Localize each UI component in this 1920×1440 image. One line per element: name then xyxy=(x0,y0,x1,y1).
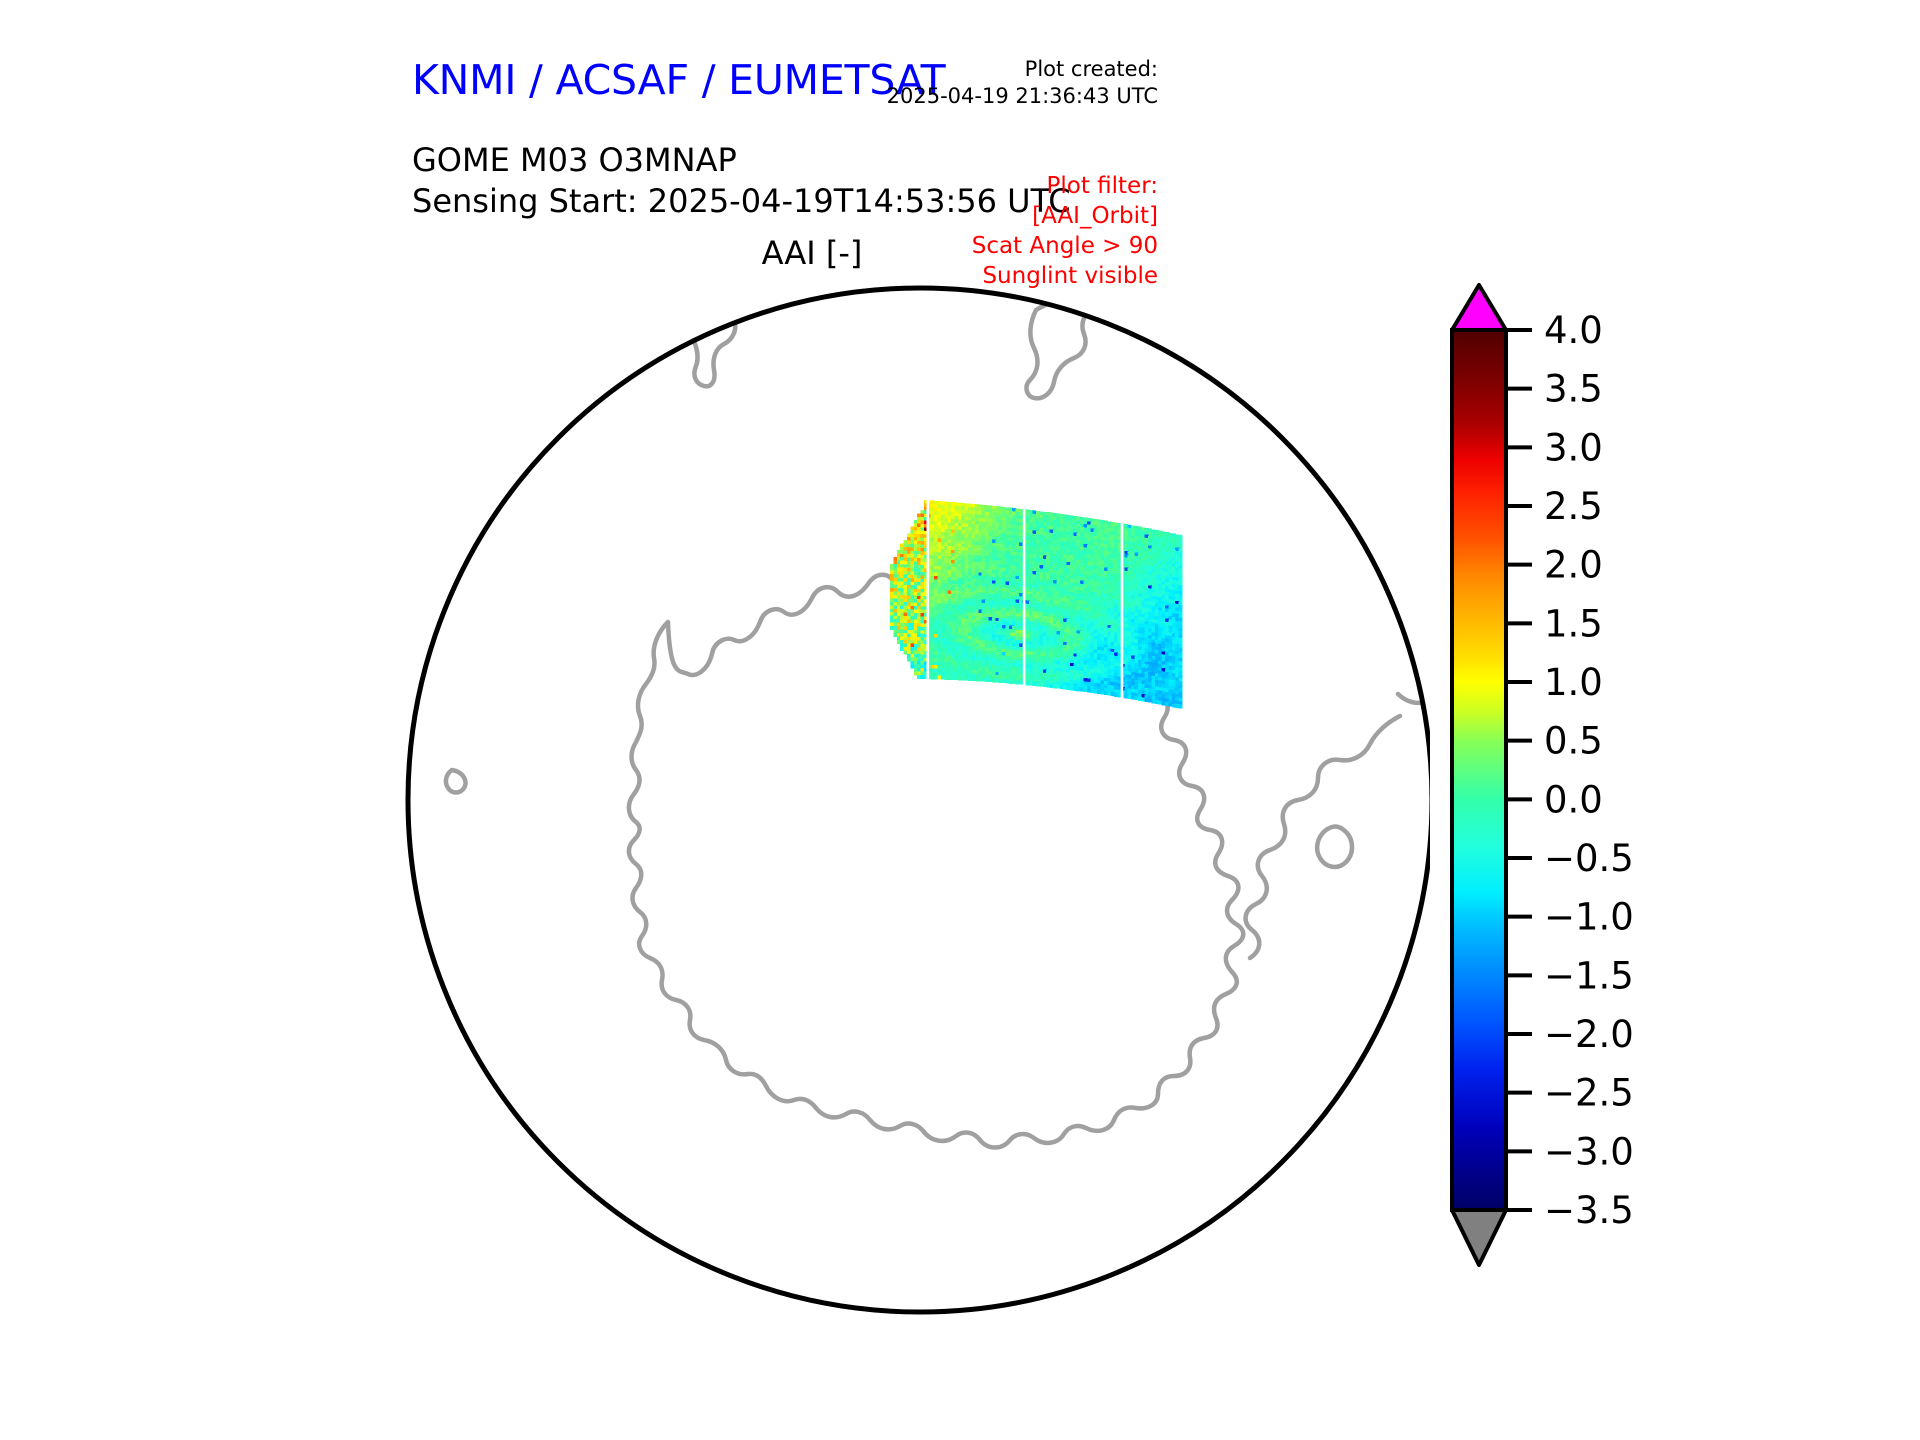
colorbar-tick-label: 3.0 xyxy=(1544,426,1603,469)
colorbar-over-range-arrow xyxy=(1452,285,1506,330)
colorbar-under-range-arrow xyxy=(1452,1210,1506,1265)
plot-created-block: Plot created: 2025-04-19 21:36:43 UTC xyxy=(738,56,1158,110)
map-svg xyxy=(390,270,1430,1330)
colorbar-tick-label: −2.5 xyxy=(1544,1072,1634,1115)
colorbar-tick-label: −0.5 xyxy=(1544,837,1634,880)
colorbar-tick-label: −2.0 xyxy=(1544,1013,1634,1056)
colorbar-tick-label: −1.0 xyxy=(1544,896,1634,939)
swath-scan-gap xyxy=(927,496,930,680)
colorbar-tick-label: 1.5 xyxy=(1544,602,1603,645)
plot-filter-name: [AAI_Orbit] xyxy=(718,202,1158,232)
plot-created-timestamp: 2025-04-19 21:36:43 UTC xyxy=(738,83,1158,110)
plot-filter-condition: Scat Angle > 90 xyxy=(718,232,1158,262)
aai-data-swath xyxy=(890,496,1183,708)
colorbar-tick-label: −3.0 xyxy=(1544,1130,1634,1173)
island-falklands xyxy=(519,351,553,385)
colorbar-tick-label: 0.0 xyxy=(1544,778,1603,821)
plot-filter-label: Plot filter: xyxy=(718,172,1158,202)
swath-pixel xyxy=(1179,705,1183,709)
colorbar-tick-label: −1.5 xyxy=(1544,954,1634,997)
globe-disc xyxy=(408,288,1430,1312)
new-zealand-north-island xyxy=(1090,270,1123,282)
colorbar-tick-label: −3.5 xyxy=(1544,1189,1634,1232)
colorbar-svg: 4.03.53.02.52.01.51.00.50.0−0.5−1.0−1.5−… xyxy=(1432,280,1852,1330)
dataset-title: GOME M03 O3MNAP xyxy=(412,141,737,179)
colorbar-tick-label: 4.0 xyxy=(1544,309,1603,352)
colorbar-tick-label: 2.5 xyxy=(1544,485,1603,528)
polar-map xyxy=(390,270,1430,1330)
colorbar: 4.03.53.02.52.01.51.00.50.0−0.5−1.0−1.5−… xyxy=(1432,280,1852,1330)
colorbar-tick-label: 0.5 xyxy=(1544,720,1603,763)
swath-scan-gap xyxy=(1023,502,1026,687)
colorbar-tick-label: 1.0 xyxy=(1544,661,1603,704)
plot-created-label: Plot created: xyxy=(1025,57,1158,81)
plot-canvas: KNMI / ACSAF / EUMETSAT Plot created: 20… xyxy=(0,0,1920,1440)
colorbar-ticks: 4.03.53.02.52.01.51.00.50.0−0.5−1.0−1.5−… xyxy=(1506,309,1634,1232)
colorbar-tick-label: 3.5 xyxy=(1544,368,1603,411)
colorbar-gradient-bar xyxy=(1452,330,1506,1210)
colorbar-tick-label: 2.0 xyxy=(1544,544,1603,587)
swath-scan-gap xyxy=(1121,516,1124,699)
